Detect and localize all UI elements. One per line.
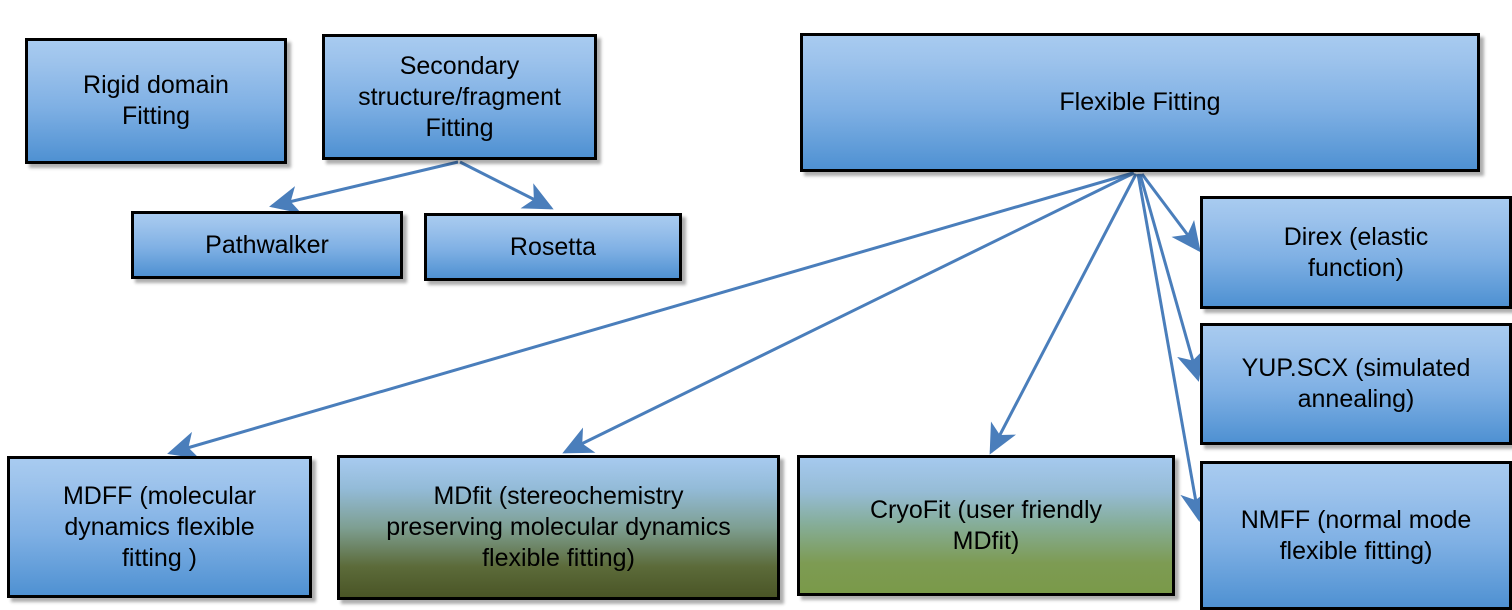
arrow-flexible-to-yupscx — [1140, 174, 1198, 379]
arrow-flexible-to-direx — [1142, 174, 1199, 250]
node-flexible-fitting[interactable]: Flexible Fitting — [800, 33, 1480, 172]
node-rigid-domain-fitting[interactable]: Rigid domain Fitting — [25, 38, 287, 164]
node-cryofit[interactable]: CryoFit (user friendly MDfit) — [797, 455, 1175, 596]
node-label: Secondary structure/fragment Fitting — [358, 51, 561, 144]
node-rosetta[interactable]: Rosetta — [424, 213, 682, 281]
node-label: Rosetta — [510, 232, 596, 263]
node-secondary-structure-fitting[interactable]: Secondary structure/fragment Fitting — [322, 34, 597, 160]
node-label: Flexible Fitting — [1059, 87, 1220, 118]
node-label: NMFF (normal mode flexible fitting) — [1241, 505, 1472, 567]
node-label: MDFF (molecular dynamics flexible fittin… — [63, 481, 256, 574]
diagram-canvas: Rigid domain Fitting Secondary structure… — [0, 0, 1512, 610]
node-yup-scx[interactable]: YUP.SCX (simulated annealing) — [1200, 323, 1512, 445]
node-mdfit[interactable]: MDfit (stereochemistry preserving molecu… — [337, 455, 780, 600]
node-nmff[interactable]: NMFF (normal mode flexible fitting) — [1200, 461, 1512, 610]
node-label: CryoFit (user friendly MDfit) — [870, 495, 1102, 557]
arrow-secondary-to-pathwalker — [272, 162, 458, 206]
arrow-secondary-to-rosetta — [460, 162, 551, 208]
node-direx[interactable]: Direx (elastic function) — [1200, 196, 1512, 309]
node-label: Direx (elastic function) — [1284, 222, 1428, 284]
node-label: Rigid domain Fitting — [83, 70, 229, 132]
arrow-flexible-to-cryofit — [991, 174, 1136, 452]
node-mdff[interactable]: MDFF (molecular dynamics flexible fittin… — [7, 456, 312, 598]
node-label: YUP.SCX (simulated annealing) — [1242, 353, 1471, 415]
node-pathwalker[interactable]: Pathwalker — [131, 211, 403, 279]
node-label: MDfit (stereochemistry preserving molecu… — [386, 481, 731, 574]
node-label: Pathwalker — [205, 230, 329, 261]
